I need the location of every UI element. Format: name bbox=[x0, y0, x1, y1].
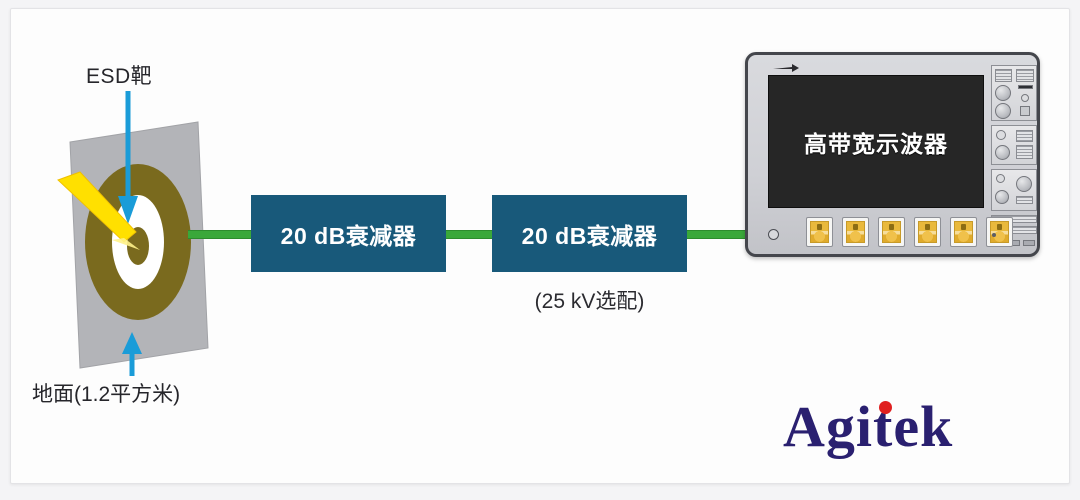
control-block-vertical bbox=[991, 65, 1037, 121]
small-button-icon[interactable] bbox=[1020, 106, 1030, 116]
oscilloscope-chassis: 高带宽示波器 bbox=[745, 52, 1040, 257]
cable-port-icon[interactable] bbox=[768, 229, 779, 240]
control-block-horizontal bbox=[991, 125, 1037, 165]
coax-cable-segment-1 bbox=[188, 230, 253, 239]
label-strip-icon bbox=[1016, 69, 1034, 82]
oscilloscope-display-label: 高带宽示波器 bbox=[804, 125, 948, 159]
logo-accent-dot bbox=[879, 401, 892, 414]
logo-text: Agitek bbox=[783, 394, 953, 459]
label-strip-icon bbox=[1016, 196, 1033, 204]
bnc-connector-icon[interactable] bbox=[878, 217, 905, 247]
oscilloscope: 高带宽示波器 bbox=[745, 52, 1040, 257]
oscilloscope-display: 高带宽示波器 bbox=[768, 75, 984, 208]
label-strip-icon bbox=[1016, 130, 1033, 142]
label-strip-icon bbox=[1016, 145, 1033, 159]
menu-button-icon[interactable] bbox=[1018, 85, 1033, 89]
bnc-connector-icon[interactable] bbox=[986, 217, 1013, 247]
bnc-connector-icon[interactable] bbox=[806, 217, 833, 247]
agitek-logo-icon: Agitek bbox=[783, 398, 953, 456]
bnc-connector-icon[interactable] bbox=[842, 217, 869, 247]
bnc-connector-icon[interactable] bbox=[950, 217, 977, 247]
small-button-icon[interactable] bbox=[996, 130, 1006, 140]
bnc-connector-icon[interactable] bbox=[914, 217, 941, 247]
rotary-knob-icon[interactable] bbox=[995, 190, 1009, 204]
control-block-trigger bbox=[991, 169, 1037, 211]
rotary-knob-icon[interactable] bbox=[995, 103, 1011, 119]
attenuator-block-1: 20 dB衰减器 bbox=[251, 195, 446, 272]
esd-target-graphic bbox=[40, 60, 270, 380]
rotary-knob-icon[interactable] bbox=[1016, 176, 1032, 192]
label-strip-icon bbox=[995, 69, 1012, 82]
diagram-canvas: ESD靶 bbox=[0, 0, 1080, 500]
coax-cable-segment-2 bbox=[444, 230, 494, 239]
attenuator-block-2: 20 dB衰减器 bbox=[492, 195, 687, 272]
esd-target-group: ESD靶 bbox=[40, 60, 270, 380]
ground-plate-label: 地面(1.2平方米) bbox=[32, 378, 180, 408]
attenuator-2-label: 20 dB衰减器 bbox=[522, 217, 658, 251]
led-indicator-icon bbox=[992, 233, 996, 237]
attenuator-2-note: (25 kV选配) bbox=[492, 285, 687, 315]
input-connector-bar bbox=[762, 215, 1028, 249]
small-button-icon[interactable] bbox=[1021, 94, 1029, 102]
attenuator-1-label: 20 dB衰减器 bbox=[281, 217, 417, 251]
rotary-knob-icon[interactable] bbox=[995, 85, 1011, 101]
small-button-icon[interactable] bbox=[996, 174, 1005, 183]
brand-arrow-icon bbox=[772, 63, 800, 73]
rotary-knob-icon[interactable] bbox=[995, 145, 1010, 160]
